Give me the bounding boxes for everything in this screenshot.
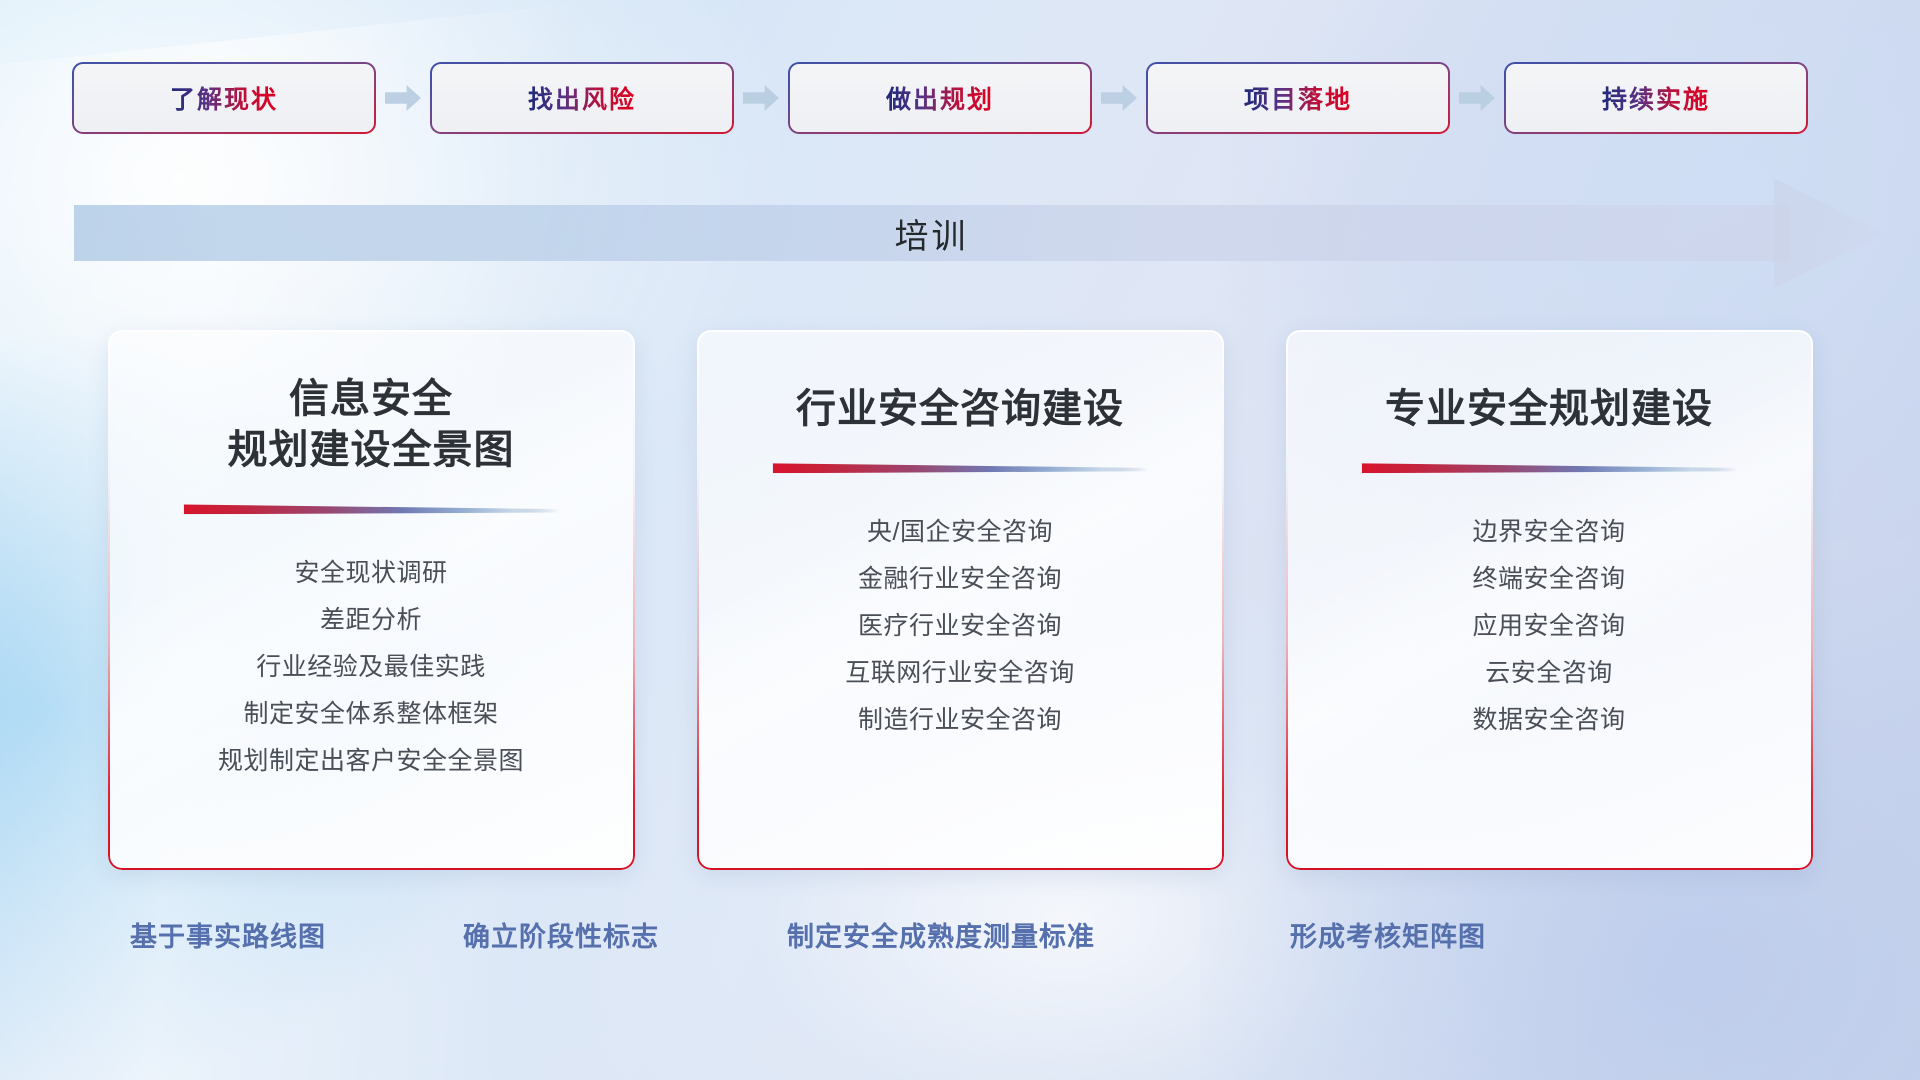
step-box-1[interactable]: 了解现状 [74,64,374,132]
card-2-title: 行业安全咨询建设 [697,330,1224,435]
card-row: 信息安全 规划建设全景图 安全现状调研 差距分析 行业经验及最佳实践 制定安全体… [0,330,1920,870]
arrow-right-icon [1459,85,1495,111]
list-item: 制定安全体系整体框架 [132,691,611,738]
list-item: 互联网行业安全咨询 [721,650,1200,697]
step-box-2[interactable]: 找出风险 [432,64,732,132]
list-item: 央/国企安全咨询 [721,509,1200,556]
arrow-right-icon [743,85,779,111]
step-label-4: 项目落地 [1244,80,1352,116]
step-connector-2 [732,85,790,111]
caption-3: 制定安全成熟度测量标准 [787,915,1095,954]
step-box-4[interactable]: 项目落地 [1148,64,1448,132]
card-2[interactable]: 行业安全咨询建设 央/国企安全咨询 金融行业安全咨询 医疗行业安全咨询 互联网行… [697,330,1224,870]
list-item: 医疗行业安全咨询 [721,603,1200,650]
card-3-title: 专业安全规划建设 [1286,330,1813,435]
step-label-3: 做出规划 [886,80,994,116]
list-item: 金融行业安全咨询 [721,556,1200,603]
card-3-list: 边界安全咨询 终端安全咨询 应用安全咨询 云安全咨询 数据安全咨询 [1286,473,1813,744]
caption-1: 基于事实路线图 [130,915,326,954]
caption-row: 基于事实路线图 确立阶段性标志 制定安全成熟度测量标准 形成考核矩阵图 [0,915,1920,961]
card-2-title-line-1: 行业安全咨询建设 [733,384,1188,435]
card-1-title-line-2: 规划建设全景图 [144,425,599,476]
card-3[interactable]: 专业安全规划建设 边界安全咨询 终端安全咨询 应用安全咨询 云安全咨询 数据安全… [1286,330,1813,870]
card-1-title-line-1: 信息安全 [144,374,599,425]
card-2-divider [773,461,1148,473]
step-label-2: 找出风险 [528,80,636,116]
list-item: 差距分析 [132,597,611,644]
card-1-divider [184,502,559,514]
card-3-divider [1362,461,1737,473]
card-2-list: 央/国企安全咨询 金融行业安全咨询 医疗行业安全咨询 互联网行业安全咨询 制造行… [697,473,1224,744]
step-box-3[interactable]: 做出规划 [790,64,1090,132]
card-3-title-line-1: 专业安全规划建设 [1322,384,1777,435]
card-1-title: 信息安全 规划建设全景图 [108,330,635,476]
caption-4: 形成考核矩阵图 [1290,915,1486,954]
list-item: 终端安全咨询 [1310,556,1789,603]
arrow-right-icon [385,85,421,111]
arrow-right-icon [1101,85,1137,111]
step-label-5: 持续实施 [1602,80,1710,116]
process-step-strip: 了解现状 找出风险 做出规划 项目落地 持续实施 [0,62,1920,134]
list-item: 制造行业安全咨询 [721,697,1200,744]
list-item: 数据安全咨询 [1310,697,1789,744]
list-item: 行业经验及最佳实践 [132,644,611,691]
step-label-1: 了解现状 [170,80,278,116]
step-connector-4 [1448,85,1506,111]
list-item: 安全现状调研 [132,550,611,597]
card-1-list: 安全现状调研 差距分析 行业经验及最佳实践 制定安全体系整体框架 规划制定出客户… [108,514,635,785]
caption-2: 确立阶段性标志 [463,915,659,954]
step-box-5[interactable]: 持续实施 [1506,64,1806,132]
step-connector-1 [374,85,432,111]
list-item: 边界安全咨询 [1310,509,1789,556]
banner-title: 培训 [74,205,1789,261]
list-item: 云安全咨询 [1310,650,1789,697]
list-item: 规划制定出客户安全全景图 [132,738,611,785]
step-connector-3 [1090,85,1148,111]
card-1[interactable]: 信息安全 规划建设全景图 安全现状调研 差距分析 行业经验及最佳实践 制定安全体… [108,330,635,870]
list-item: 应用安全咨询 [1310,603,1789,650]
training-banner: 培训 [74,205,1864,261]
